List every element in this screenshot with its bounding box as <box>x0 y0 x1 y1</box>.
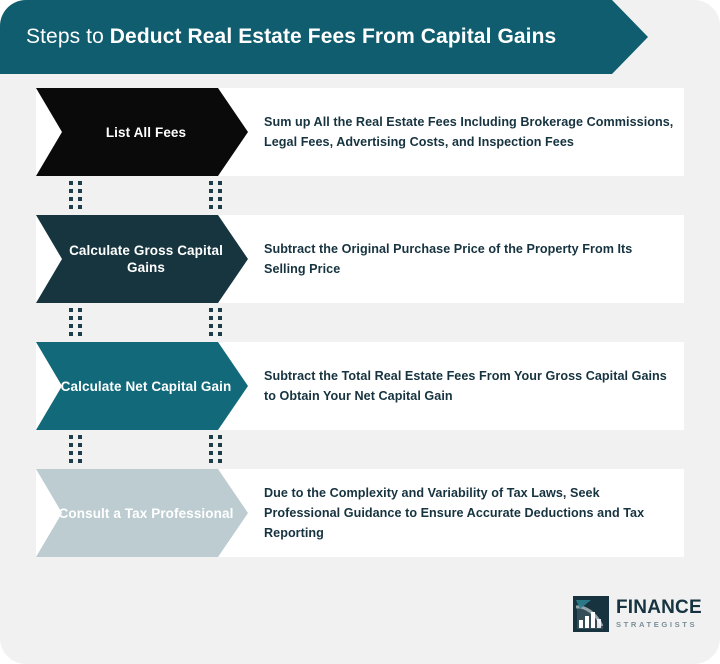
step-description: Due to the Complexity and Variability of… <box>264 483 676 543</box>
step-description-container: Due to the Complexity and Variability of… <box>264 469 676 557</box>
dotted-line <box>218 308 222 338</box>
dotted-line <box>69 308 73 338</box>
step-connector-dots <box>0 303 720 342</box>
step-label: Consult a Tax Professional <box>45 505 240 522</box>
step-description-container: Sum up All the Real Estate Fees Includin… <box>264 88 676 176</box>
step-row: Calculate Gross Capital Gains Subtract t… <box>0 215 720 303</box>
dotted-line <box>209 308 213 338</box>
step-row: Calculate Net Capital Gain Subtract the … <box>0 342 720 430</box>
infographic-canvas: Steps to Deduct Real Estate Fees From Ca… <box>0 0 720 664</box>
logo-name: FINANCE <box>616 598 702 617</box>
step-row: List All Fees Sum up All the Real Estate… <box>0 88 720 176</box>
dotted-line <box>218 181 222 211</box>
step-description: Subtract the Total Real Estate Fees From… <box>264 366 676 406</box>
dotted-line <box>78 181 82 211</box>
dotted-line <box>78 308 82 338</box>
steps-list: List All Fees Sum up All the Real Estate… <box>0 88 720 557</box>
page-title: Steps to Deduct Real Estate Fees From Ca… <box>0 25 556 49</box>
dotted-line <box>78 435 82 465</box>
dotted-line <box>209 181 213 211</box>
step-chevron-4: Consult a Tax Professional <box>36 469 248 557</box>
step-connector-dots <box>0 430 720 469</box>
step-description-container: Subtract the Original Purchase Price of … <box>264 215 676 303</box>
step-chevron-2: Calculate Gross Capital Gains <box>36 215 248 303</box>
step-chevron-3: Calculate Net Capital Gain <box>36 342 248 430</box>
step-description: Sum up All the Real Estate Fees Includin… <box>264 112 676 152</box>
logo-wordmark: FINANCE STRATEGISTS <box>616 598 702 630</box>
step-description: Subtract the Original Purchase Price of … <box>264 239 676 279</box>
dotted-line <box>218 435 222 465</box>
logo-subtitle: STRATEGISTS <box>616 619 702 630</box>
step-connector-dots <box>0 176 720 215</box>
brand-logo: FINANCE STRATEGISTS <box>573 596 702 632</box>
step-description-container: Subtract the Total Real Estate Fees From… <box>264 342 676 430</box>
step-label: Calculate Gross Capital Gains <box>36 242 248 276</box>
header-banner: Steps to Deduct Real Estate Fees From Ca… <box>0 0 648 74</box>
step-label: List All Fees <box>92 124 192 141</box>
step-chevron-1: List All Fees <box>36 88 248 176</box>
step-row: Consult a Tax Professional Due to the Co… <box>0 469 720 557</box>
page-title-lead: Steps to <box>26 25 110 48</box>
page-title-strong: Deduct Real Estate Fees From Capital Gai… <box>110 25 557 48</box>
dotted-line <box>69 181 73 211</box>
dotted-line <box>209 435 213 465</box>
step-label: Calculate Net Capital Gain <box>47 378 238 395</box>
dotted-line <box>69 435 73 465</box>
finance-strategists-logo-icon <box>573 596 609 632</box>
